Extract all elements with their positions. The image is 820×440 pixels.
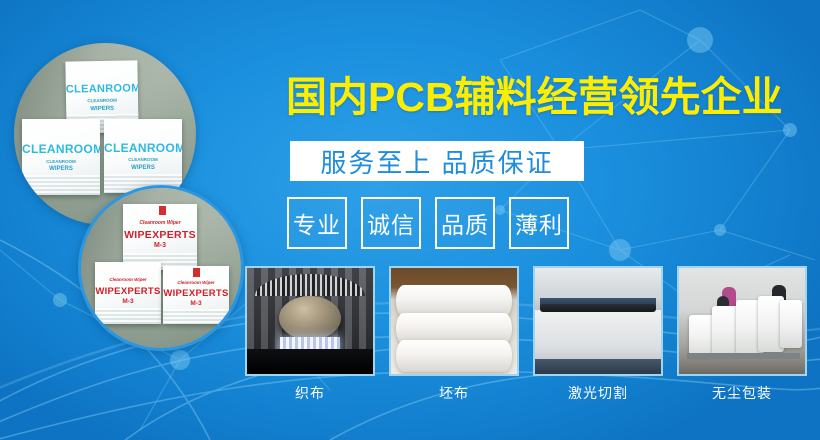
pack-sub-label-2: M-3 (95, 298, 161, 305)
thumbnail-item[interactable]: 激光切割 (533, 266, 663, 403)
pack-sub-label-1: Cleanroom Wiper (163, 280, 229, 285)
badge-zhuanye[interactable]: 专业 (287, 197, 347, 249)
wiper-pack: CLEANROOM CLEANROOM WIPERS (104, 119, 182, 193)
thumbnail-item[interactable]: 坯布 (389, 266, 519, 403)
thumbnail-image-weaving[interactable] (245, 266, 375, 376)
pack-brand-label: WIPEXPERTS (123, 229, 197, 241)
badge-baoli[interactable]: 薄利 (509, 197, 569, 249)
thumbnail-image-laser-cutting[interactable] (533, 266, 663, 376)
pack-brand-label: WIPEXPERTS (163, 288, 229, 299)
process-thumbnail-row: 织布 坯布 激光切割 (245, 266, 807, 403)
wiper-pack: Cleanroom Wiper WIPEXPERTS M-3 (95, 262, 161, 324)
pack-brand-label: WIPEXPERTS (95, 286, 161, 297)
wiper-pack: Cleanroom Wiper WIPEXPERTS M-3 (163, 266, 229, 324)
pack-sub-label-1: CLEANROOM (22, 159, 100, 164)
pack-sub-label-1: CLEANROOM (66, 98, 138, 104)
pack-sub-label-2: WIPERS (66, 105, 138, 112)
pack-sub-label-1: CLEANROOM (104, 157, 182, 162)
thumbnail-item[interactable]: 无尘包装 (677, 266, 807, 403)
pack-sub-label-1: Cleanroom Wiper (95, 277, 161, 282)
pack-sub-label-2: WIPERS (104, 165, 182, 171)
pack-sub-label-2: M-3 (163, 300, 229, 307)
product-photo-wipexperts: Cleanroom Wiper WIPEXPERTS M-3 Cleanroom… (78, 185, 244, 351)
thumbnail-caption: 坯布 (389, 383, 519, 403)
badge-chengxin[interactable]: 诚信 (361, 197, 421, 249)
keyword-badge-row: 专业 诚信 品质 薄利 (287, 197, 569, 249)
thumbnail-image-cleanroom-packing[interactable] (677, 266, 807, 376)
pack-brand-label: CLEANROOM (104, 141, 182, 155)
badge-pinzhi[interactable]: 品质 (435, 197, 495, 249)
pack-brand-label: CLEANROOM (22, 142, 100, 156)
thumbnail-caption: 无尘包装 (677, 383, 807, 403)
pack-brand-label: CLEANROOM (66, 82, 138, 95)
thumbnail-caption: 激光切割 (533, 383, 663, 403)
thumbnail-item[interactable]: 织布 (245, 266, 375, 403)
promotional-banner: CLEANROOM CLEANROOM WIPERS CLEANROOM CLE… (0, 0, 820, 440)
thumbnail-image-greige-fabric[interactable] (389, 266, 519, 376)
subtitle-box: 服务至上 品质保证 (290, 141, 584, 181)
pack-sub-label-2: M-3 (123, 242, 197, 249)
headline-title: 国内PCB辅料经营领先企业 (286, 72, 791, 122)
subtitle-text: 服务至上 品质保证 (320, 143, 553, 180)
pack-sub-label-2: WIPERS (22, 166, 100, 172)
thumbnail-caption: 织布 (245, 383, 375, 403)
pack-sub-label-1: Cleanroom Wiper (123, 220, 197, 226)
wiper-pack: Cleanroom Wiper WIPEXPERTS M-3 (123, 204, 197, 270)
wiper-pack: CLEANROOM CLEANROOM WIPERS (22, 119, 100, 195)
